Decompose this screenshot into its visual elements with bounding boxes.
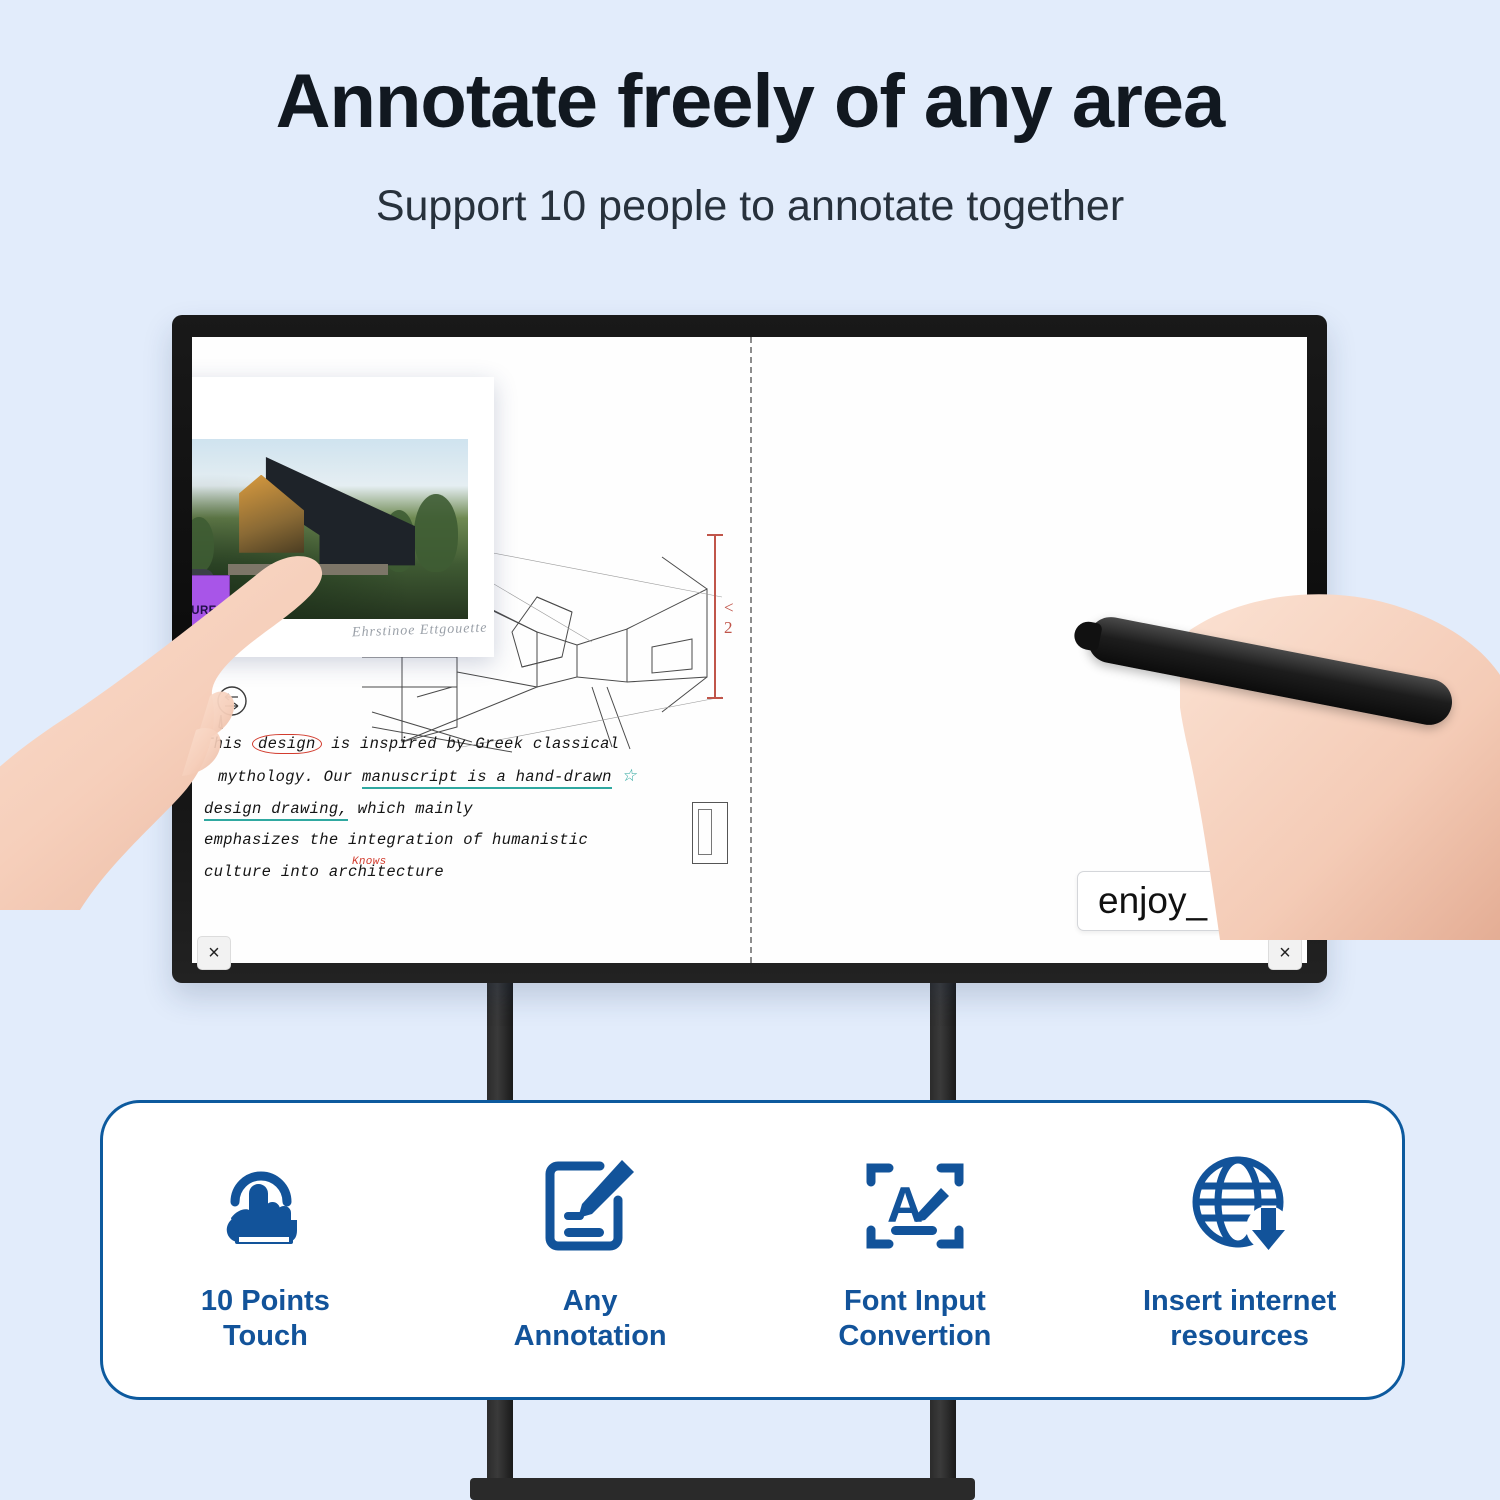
feature-label: Font Input Convertion (838, 1284, 991, 1354)
stand-foot (470, 1478, 975, 1500)
feature-font-input-convertion[interactable]: A Font Input Convertion (765, 1146, 1065, 1354)
feature-label-line2: Convertion (838, 1320, 991, 1352)
touch-hand-icon (209, 1146, 321, 1266)
globe-download-icon (1184, 1146, 1296, 1266)
svg-text:A: A (887, 1177, 923, 1233)
dimension-marker: < 2 (704, 534, 738, 699)
dimension-label: < 2 (724, 598, 738, 638)
feature-label-line2: resources (1170, 1320, 1309, 1352)
feature-insert-internet-resources[interactable]: Insert internet resources (1090, 1146, 1390, 1354)
feature-label-line2: Touch (223, 1320, 308, 1352)
underlined-phrase: manuscript is a hand-drawn (362, 768, 612, 789)
feature-label-line1: Any (563, 1285, 618, 1317)
page-title: Annotate freely of any area (0, 62, 1500, 142)
close-button-left[interactable]: × (197, 936, 231, 970)
feature-card: 10 Points Touch Any Annotation (100, 1100, 1405, 1400)
feature-label-line1: 10 Points (201, 1285, 330, 1317)
feature-label: Insert internet resources (1143, 1284, 1336, 1354)
feature-label-line1: Font Input (844, 1285, 986, 1317)
page-divider (750, 337, 752, 963)
handwriting-stroke: enjoy (1075, 952, 1265, 963)
feature-10-points-touch[interactable]: 10 Points Touch (115, 1146, 415, 1354)
feature-label-line2: Annotation (514, 1320, 667, 1352)
feature-label-line1: Insert internet (1143, 1285, 1336, 1317)
pointing-hand-left (0, 510, 380, 910)
pen-document-icon (534, 1146, 646, 1266)
feature-label: Any Annotation (514, 1284, 667, 1354)
page-subtitle: Support 10 people to annotate together (0, 182, 1500, 231)
font-scan-icon: A (859, 1146, 971, 1266)
page-root: Annotate freely of any area Support 10 p… (0, 0, 1500, 1500)
close-button-right[interactable]: × (1268, 936, 1302, 970)
star-icon: ☆ (621, 768, 637, 787)
feature-label: 10 Points Touch (201, 1284, 330, 1354)
feature-any-annotation[interactable]: Any Annotation (440, 1146, 740, 1354)
